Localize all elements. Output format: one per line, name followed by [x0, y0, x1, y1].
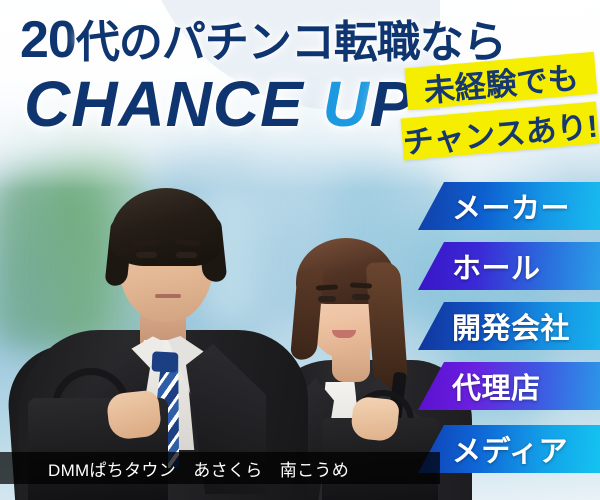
- category-tab-agency[interactable]: 代理店: [418, 362, 600, 410]
- tab-label: ホール: [452, 245, 541, 287]
- category-tab-media[interactable]: メディア: [418, 425, 600, 473]
- category-tab-development-company[interactable]: 開発会社: [418, 302, 600, 350]
- caption-text: DMMぱちタウン あさくら 南こうめ: [0, 456, 349, 481]
- category-tab-maker[interactable]: メーカー: [418, 182, 600, 230]
- category-tab-list: メーカー ホール 開発会社 代理店 メディア: [0, 0, 600, 500]
- tab-label: 代理店: [452, 365, 541, 407]
- tab-label: メディア: [452, 428, 568, 470]
- category-tab-hall[interactable]: ホール: [418, 242, 600, 290]
- caption-bar: DMMぱちタウン あさくら 南こうめ: [0, 452, 440, 484]
- advertisement-banner[interactable]: 20代のパチンコ転職なら CHANCE UP 未経験でも チャンスあり! メーカ…: [0, 0, 600, 500]
- tab-label: メーカー: [452, 185, 570, 227]
- tab-label: 開発会社: [452, 305, 570, 347]
